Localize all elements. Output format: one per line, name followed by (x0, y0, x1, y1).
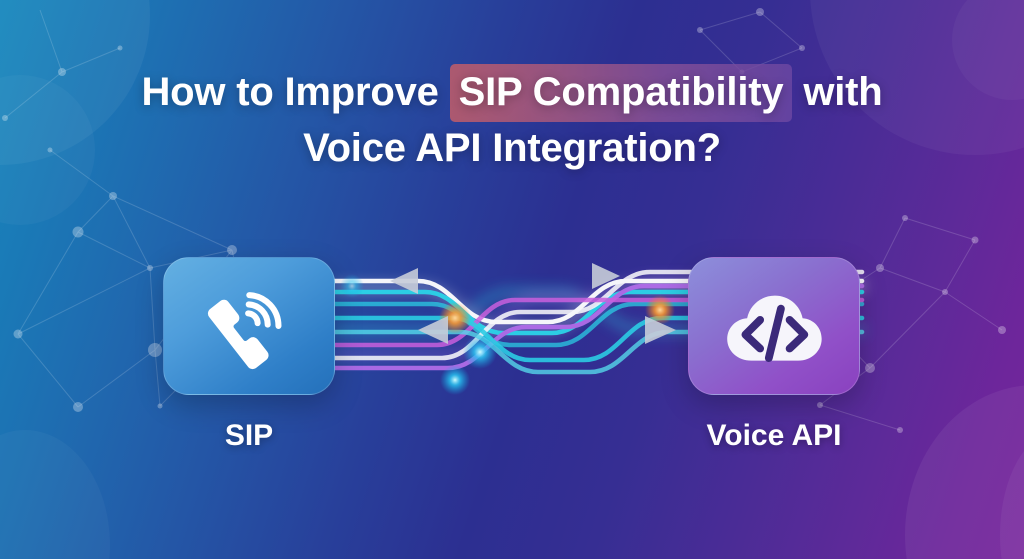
sip-node-box[interactable] (163, 257, 335, 395)
headline-text-after: with (803, 70, 882, 114)
voice-api-node-box[interactable] (688, 257, 860, 395)
voice-api-node-label: Voice API (688, 419, 860, 453)
flow-arrows (390, 263, 676, 344)
arrow-right-1 (540, 263, 620, 289)
arrow-right-2 (600, 316, 676, 344)
headline-line-2: Voice API Integration? (0, 122, 1024, 174)
sip-node-label: SIP (163, 419, 335, 453)
cloud-code-icon (722, 282, 826, 370)
phone-ringing-icon (203, 280, 295, 372)
banner-canvas: How to Improve SIP Compatibility with Vo… (0, 0, 1024, 559)
headline-highlight: SIP Compatibility (450, 64, 793, 122)
headline-line-1: How to Improve SIP Compatibility with (0, 64, 1024, 122)
banner-headline: How to Improve SIP Compatibility with Vo… (0, 64, 1024, 174)
arrow-left-2 (418, 316, 498, 344)
arrow-left-1 (390, 268, 470, 294)
headline-text-before: How to Improve (141, 70, 438, 114)
